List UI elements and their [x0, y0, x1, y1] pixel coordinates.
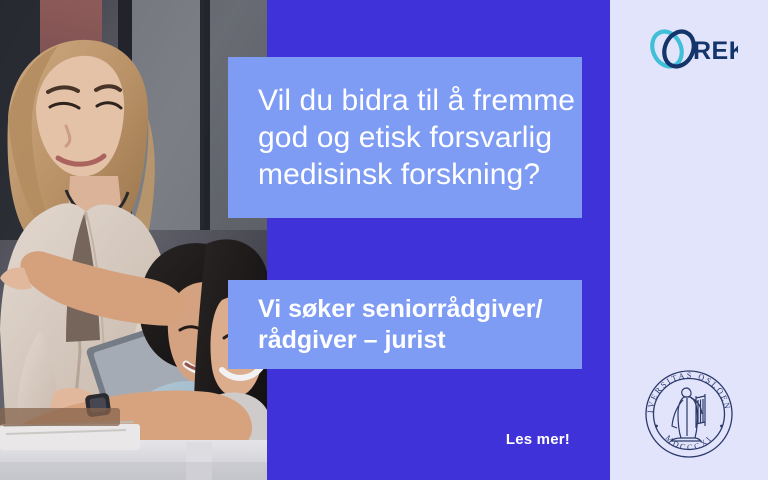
- job-title-line-1: Vi søker seniorrådgiver/: [258, 294, 552, 325]
- recruitment-banner: Vil du bidra til å fremme god og etisk f…: [0, 0, 768, 480]
- job-title-line-2: rådgiver – jurist: [258, 325, 552, 356]
- uio-seal-figure: [671, 388, 705, 441]
- headline-line-1: Vil du bidra til å fremme: [258, 82, 552, 119]
- rek-logo-rings: [648, 27, 699, 71]
- read-more-link[interactable]: Les mer!: [430, 430, 570, 450]
- hero-photo: [0, 0, 267, 480]
- headline-callout: Vil du bidra til å fremme god og etisk f…: [228, 57, 582, 218]
- headline-line-3: medisinsk forskning?: [258, 156, 552, 193]
- uio-seal-year: MDCCCXI: [663, 433, 714, 452]
- headline-line-2: god og etisk forsvarlig: [258, 119, 552, 156]
- uio-seal: UNIVERSITAS OSLOENSIS MDCCCXI: [643, 368, 735, 460]
- rek-logo[interactable]: REK: [648, 26, 738, 72]
- rek-wordmark: REK: [693, 37, 738, 65]
- job-title-callout: Vi søker seniorrådgiver/ rådgiver – juri…: [228, 280, 582, 369]
